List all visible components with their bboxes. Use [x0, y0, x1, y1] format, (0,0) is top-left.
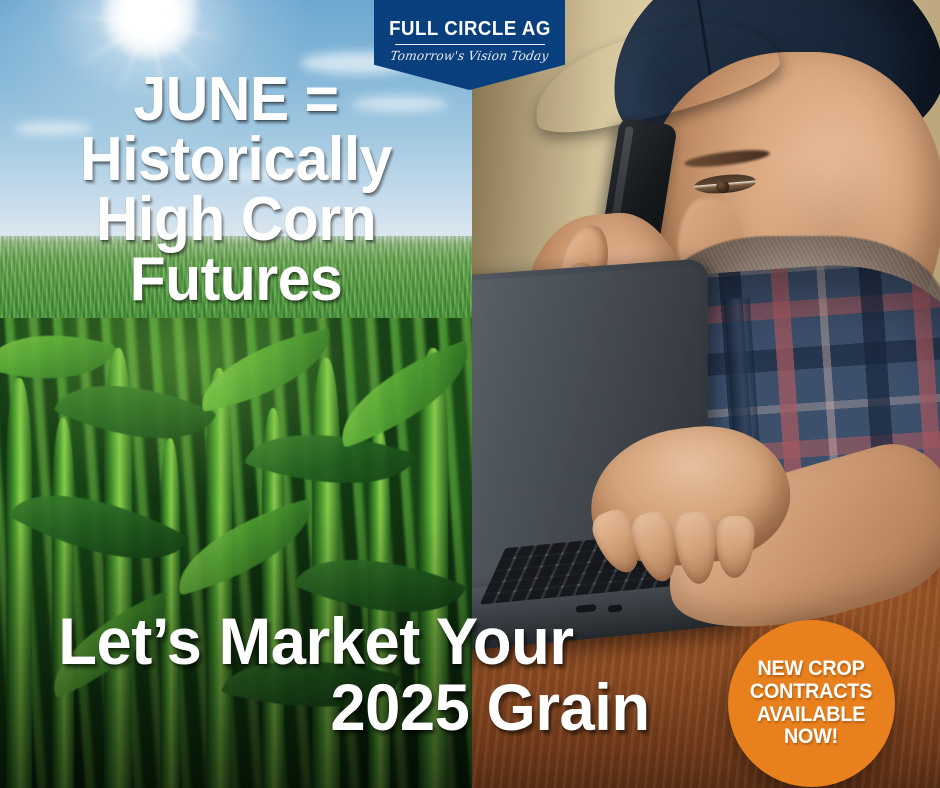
logo-divider: [395, 44, 545, 45]
cloud-shape: [14, 122, 92, 135]
laptop-port: [608, 604, 623, 612]
corn-stalk: [104, 348, 132, 788]
corn-leaf: [53, 352, 216, 471]
corn-leaf: [244, 405, 415, 513]
brand-tagline: Tomorrow's Vision Today: [389, 48, 550, 63]
corn-stalk: [262, 408, 284, 788]
corn-stalk: [206, 368, 232, 788]
cloud-shape: [200, 168, 350, 182]
corn-leaf: [192, 328, 341, 412]
ad-creative: FULL CIRCLE AG Tomorrow's Vision Today J…: [0, 0, 940, 788]
corn-stalk: [6, 378, 32, 788]
corn-stalk: [160, 438, 180, 788]
corn-leaf: [221, 634, 400, 733]
corn-stalk: [52, 418, 74, 788]
badge-line-3: AVAILABLE: [750, 704, 872, 727]
badge-line-2: CONTRACTS: [750, 681, 872, 704]
corn-stalk: [368, 428, 390, 788]
new-crop-contracts-badge[interactable]: NEW CROP CONTRACTS AVAILABLE NOW!: [728, 620, 895, 787]
corn-leaf: [324, 340, 472, 448]
corn-leaf: [8, 458, 189, 596]
brand-name: FULL CIRCLE AG: [389, 19, 551, 39]
corn-field-photo: [0, 0, 472, 788]
corn-leaf: [165, 498, 325, 595]
corn-leaf: [294, 526, 466, 645]
corn-leaf: [0, 318, 116, 401]
corn-stalk: [312, 358, 340, 788]
badge-line-4: NOW!: [750, 726, 872, 749]
badge-line-1: NEW CROP: [750, 658, 872, 681]
foreground-corn-stalks: [0, 318, 472, 788]
corn-leaf: [35, 592, 185, 698]
cloud-shape: [352, 96, 448, 112]
badge-text: NEW CROP CONTRACTS AVAILABLE NOW!: [750, 658, 872, 749]
corn-stalk: [418, 348, 448, 788]
